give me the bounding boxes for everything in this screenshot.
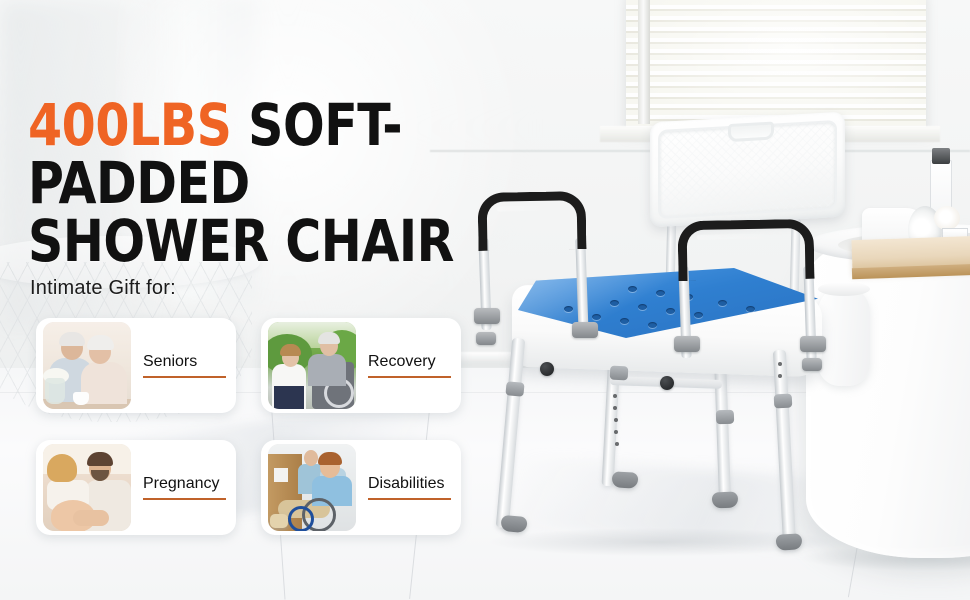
headline-line2: SHOWER CHAIR: [28, 212, 554, 270]
leg-front-left: [496, 338, 526, 528]
leg-collar: [505, 381, 524, 397]
backrest-handle-cutout: [728, 122, 774, 143]
gift-section-label: Intimate Gift for:: [30, 277, 176, 300]
leg-collar: [610, 366, 629, 381]
gift-card-text: Pregnancy: [131, 440, 236, 535]
seat-drain-hole: [746, 306, 755, 312]
leg-adjust-hole: [613, 394, 617, 398]
gift-card-underline: [368, 498, 451, 500]
height-adjustment-knob: [660, 376, 674, 390]
gift-card-seniors[interactable]: Seniors: [36, 318, 236, 413]
white-flower: [934, 206, 960, 230]
banner-canvas: 400LBS SOFT-PADDED SHOWER CHAIR Intimate…: [0, 0, 970, 600]
seat-drain-hole: [620, 318, 629, 324]
seat-drain-hole: [564, 306, 573, 312]
seat-drain-hole: [656, 290, 665, 296]
gift-cards-grid: Seniors Recovery: [36, 318, 496, 540]
armrest-clamp: [802, 358, 822, 371]
pregnancy-photo: [43, 444, 131, 531]
gift-card-label: Seniors: [143, 353, 226, 376]
seat-drain-hole: [666, 308, 675, 314]
seat-drain-hole: [694, 312, 703, 318]
leg-collar: [716, 410, 734, 425]
right-armrest-grip: [677, 219, 814, 281]
gift-card-underline: [143, 498, 226, 500]
gift-card-label: Recovery: [368, 353, 451, 376]
leg-front-right: [773, 350, 796, 546]
seat-drain-hole: [592, 314, 601, 320]
recovery-photo: [268, 322, 356, 409]
gift-card-pregnancy[interactable]: Pregnancy: [36, 440, 236, 535]
seat-drain-hole: [628, 286, 637, 292]
gift-card-recovery[interactable]: Recovery: [261, 318, 461, 413]
armrest-gloss: [697, 233, 775, 239]
backrest-panel: [650, 112, 845, 228]
disabilities-photo: [268, 444, 356, 531]
armrest-clamp: [572, 322, 598, 338]
gift-card-underline: [143, 376, 226, 378]
seniors-photo: [43, 322, 131, 409]
leg-adjust-hole: [615, 442, 619, 446]
leg-adjust-hole: [614, 418, 618, 422]
leg-adjust-hole: [614, 430, 618, 434]
rubber-foot: [612, 471, 639, 488]
leg-adjust-hole: [778, 374, 782, 378]
leg-collar: [774, 394, 793, 409]
rubber-foot: [712, 492, 739, 509]
rubber-foot: [500, 515, 527, 533]
headline: 400LBS SOFT-PADDED SHOWER CHAIR: [28, 96, 554, 270]
window-frame: [638, 0, 650, 124]
seat-drain-hole: [610, 300, 619, 306]
gift-card-label: Disabilities: [368, 475, 451, 498]
leg-adjust-hole: [778, 362, 782, 366]
seat-drain-hole: [638, 304, 647, 310]
pump-bottle-cap: [932, 148, 950, 164]
gift-card-text: Disabilities: [356, 440, 461, 535]
leg-adjust-hole: [613, 406, 617, 410]
gift-card-underline: [368, 376, 451, 378]
gift-card-text: Seniors: [131, 318, 236, 413]
seat-drain-hole: [648, 322, 657, 328]
height-adjustment-knob: [540, 362, 554, 376]
armrest-clamp: [800, 336, 826, 352]
armrest-clamp: [674, 336, 700, 352]
gift-card-disabilities[interactable]: Disabilities: [261, 440, 461, 535]
gift-card-label: Pregnancy: [143, 475, 226, 498]
seat-drain-hole: [718, 300, 727, 306]
gift-card-text: Recovery: [356, 318, 461, 413]
